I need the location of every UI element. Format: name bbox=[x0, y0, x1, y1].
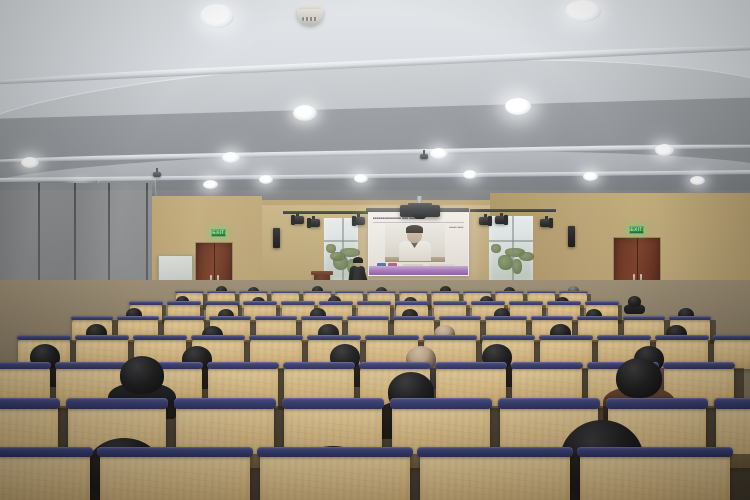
ceiling-downlight bbox=[222, 152, 240, 163]
exit-sign-label: EXIT bbox=[212, 231, 224, 236]
stage-spotlight-icon bbox=[352, 214, 366, 228]
stage-spotlight-icon bbox=[539, 216, 553, 230]
ceiling-downlight bbox=[21, 157, 39, 168]
window-foliage bbox=[519, 252, 534, 261]
seat-headrest bbox=[577, 447, 733, 457]
seat-gap bbox=[730, 454, 750, 500]
window-foliage bbox=[498, 255, 513, 270]
ceiling-downlight bbox=[200, 4, 234, 28]
seat-headrest bbox=[0, 447, 93, 457]
seat-headrest bbox=[257, 447, 413, 457]
stage-spotlight-icon bbox=[291, 213, 305, 227]
auditorium-seat[interactable] bbox=[0, 452, 90, 500]
window-mullion bbox=[324, 240, 358, 242]
window-mullion bbox=[512, 216, 514, 282]
window-mullion bbox=[342, 218, 344, 280]
wall-speaker-left bbox=[273, 228, 280, 248]
ceiling-downlight bbox=[354, 174, 368, 183]
seat-headrest bbox=[97, 447, 253, 457]
stage-spotlight-icon bbox=[494, 213, 508, 227]
auditorium-seat[interactable] bbox=[580, 452, 730, 500]
window-mullion bbox=[489, 240, 533, 242]
lighting-rail bbox=[470, 209, 556, 212]
ceiling-downlight bbox=[505, 98, 531, 115]
ceiling-downlight bbox=[690, 176, 705, 185]
auditorium-scene: EXITEXIT ■■■■■■■■■■■■■■ ■■■ ■■■■■ ■■■■■ … bbox=[0, 0, 750, 500]
ceiling-sensor-icon bbox=[153, 172, 161, 177]
seat-wood-grain bbox=[269, 469, 401, 495]
auditorium-seat[interactable] bbox=[420, 452, 570, 500]
wall-speaker-right bbox=[568, 226, 575, 247]
ceiling-downlight bbox=[259, 175, 273, 184]
stage-spotlight-icon bbox=[307, 216, 321, 230]
slide-photo bbox=[385, 224, 445, 262]
exit-sign-left: EXIT bbox=[211, 229, 226, 237]
auditorium-seat[interactable] bbox=[260, 452, 410, 500]
seat-row bbox=[0, 280, 750, 500]
ceiling-downlight bbox=[583, 172, 598, 181]
exit-sign-right: EXIT bbox=[629, 226, 644, 234]
window-foliage bbox=[491, 244, 501, 253]
smoke-detector-icon bbox=[297, 2, 323, 28]
ceiling-downlight bbox=[293, 105, 317, 121]
seat-headrest bbox=[417, 447, 573, 457]
auditorium-seat[interactable] bbox=[100, 452, 250, 500]
slide-side-text: ■■■■■ ■■■■ bbox=[449, 226, 466, 229]
seat-wood-grain bbox=[109, 469, 241, 495]
ceiling-downlight bbox=[565, 0, 601, 22]
ceiling-downlight bbox=[463, 170, 477, 179]
ceiling-downlight bbox=[655, 144, 674, 156]
slide-footer-banner bbox=[369, 266, 468, 275]
ceiling-projector-icon bbox=[398, 196, 442, 222]
seat-wood-grain bbox=[429, 469, 561, 495]
ceiling-downlight bbox=[430, 148, 448, 159]
seat-wood-grain bbox=[589, 469, 721, 495]
ceiling-downlight bbox=[203, 180, 218, 189]
exit-sign-label: EXIT bbox=[630, 228, 642, 233]
audience-seating bbox=[0, 280, 750, 500]
seat-wood-grain bbox=[0, 469, 81, 495]
stage-spotlight-icon bbox=[478, 214, 492, 228]
ceiling-sensor-icon bbox=[420, 154, 428, 159]
